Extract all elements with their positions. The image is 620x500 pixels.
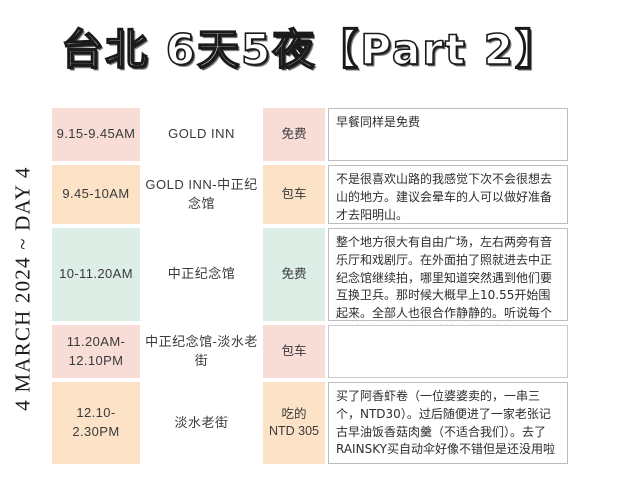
table-row: 11.20AM-12.10PM 中正纪念馆-淡水老街 包车 — [52, 325, 568, 378]
schedule-table: 9.15-9.45AM GOLD INN 免费 早餐同样是免费 9.45-10A… — [52, 108, 568, 468]
row-cost: 免费 — [263, 228, 325, 321]
row-description: 早餐同样是免费 — [328, 108, 568, 161]
row-cost: 包车 — [263, 165, 325, 224]
row-cost-label: 免费 — [281, 266, 306, 283]
row-cost-amount: NTD 305 — [269, 423, 319, 440]
day-label-container: 4 MARCH 2024 ~ DAY 4 — [0, 108, 46, 468]
page-title-area: 台北 6天5夜【Part 2】 — [0, 0, 620, 100]
row-activity: GOLD INN-中正纪念馆 — [140, 165, 263, 224]
row-activity: 中正纪念馆-淡水老街 — [140, 325, 263, 378]
row-description: 不是很喜欢山路的我感觉下次不会很想去山的地方。建议会晕车的人可以做好准备才去阳明… — [328, 165, 568, 224]
row-time: 9.15-9.45AM — [52, 108, 140, 161]
row-description: 买了阿香虾卷（一位婆婆卖的，一串三个，NTD30）。过后随便进了一家老张记古早油… — [328, 382, 568, 464]
row-cost-label: 免费 — [281, 126, 306, 143]
day-label: 4 MARCH 2024 ~ DAY 4 — [11, 166, 36, 410]
table-row: 12.10-2.30PM 淡水老街 吃的 NTD 305 买了阿香虾卷（一位婆婆… — [52, 382, 568, 464]
row-cost: 免费 — [263, 108, 325, 161]
table-row: 9.45-10AM GOLD INN-中正纪念馆 包车 不是很喜欢山路的我感觉下… — [52, 165, 568, 224]
row-activity: 中正纪念馆 — [140, 228, 263, 321]
row-cost-label: 包车 — [281, 343, 306, 360]
row-time: 10-11.20AM — [52, 228, 140, 321]
row-time: 12.10-2.30PM — [52, 382, 140, 464]
table-row: 10-11.20AM 中正纪念馆 免费 整个地方很大有自由广场，左右两旁有音乐厅… — [52, 228, 568, 321]
row-activity: GOLD INN — [140, 108, 263, 161]
row-time: 11.20AM-12.10PM — [52, 325, 140, 378]
row-description: 整个地方很大有自由广场，左右两旁有音乐厅和戏剧厅。在外面拍了照就进去中正纪念馆继… — [328, 228, 568, 321]
row-cost-label: 包车 — [281, 186, 306, 203]
row-activity: 淡水老街 — [140, 382, 263, 464]
row-cost: 吃的 NTD 305 — [263, 382, 325, 464]
page-title: 台北 6天5夜【Part 2】 — [61, 29, 559, 71]
row-description — [328, 325, 568, 378]
row-cost: 包车 — [263, 325, 325, 378]
table-row: 9.15-9.45AM GOLD INN 免费 早餐同样是免费 — [52, 108, 568, 161]
row-time: 9.45-10AM — [52, 165, 140, 224]
row-cost-label: 吃的 — [281, 406, 306, 423]
